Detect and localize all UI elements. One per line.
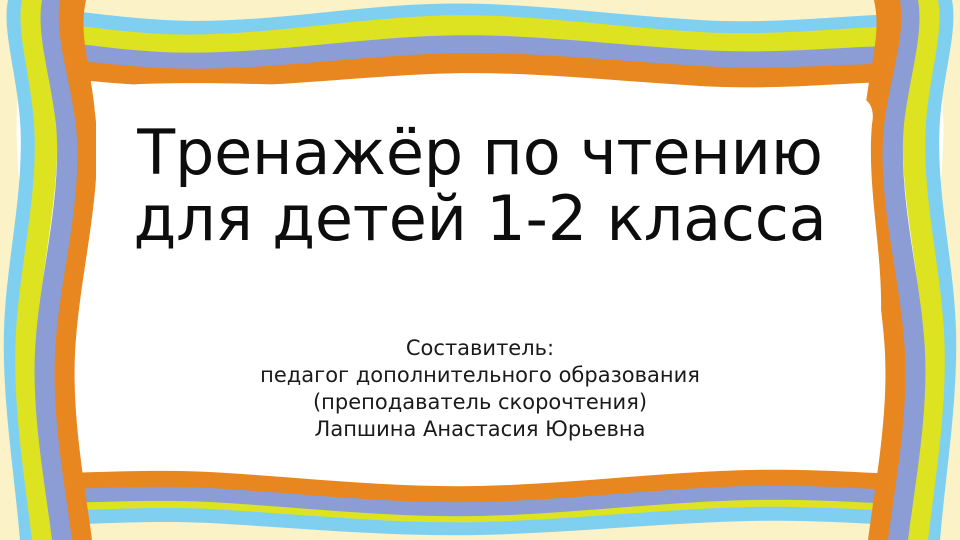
- subtitle-line-3: (преподаватель скорочтения): [62, 389, 898, 416]
- slide-content-area: Тренажёр по чтению для детей 1-2 класса …: [62, 42, 898, 498]
- left-band-cream: [0, 0, 36, 540]
- left-band-yellow: [15, 0, 57, 540]
- subtitle-line-4: Лапшина Анастасия Юрьевна: [62, 416, 898, 443]
- slide-subtitle: Составитель: педагог дополнительного обр…: [62, 335, 898, 443]
- bottom-band-cream: [0, 521, 960, 540]
- slide-title: Тренажёр по чтению для детей 1-2 класса: [62, 120, 898, 252]
- subtitle-line-2: педагог дополнительного образования: [62, 362, 898, 389]
- slide-canvas: Тренажёр по чтению для детей 1-2 класса …: [0, 0, 960, 540]
- top-band-cream: [0, 0, 960, 37]
- bottom-band-yellow: [0, 500, 960, 527]
- bottom-band-lightblue: [0, 507, 960, 539]
- subtitle-line-1: Составитель:: [62, 335, 898, 362]
- right-band-yellow: [903, 0, 945, 540]
- left-band-lightblue: [4, 0, 41, 540]
- right-band-cream: [924, 0, 960, 540]
- title-line-1: Тренажёр по чтению: [62, 120, 898, 186]
- title-line-2: для детей 1-2 класса: [62, 186, 898, 252]
- right-band-lightblue: [919, 0, 956, 540]
- top-band-lightblue: [0, 4, 960, 42]
